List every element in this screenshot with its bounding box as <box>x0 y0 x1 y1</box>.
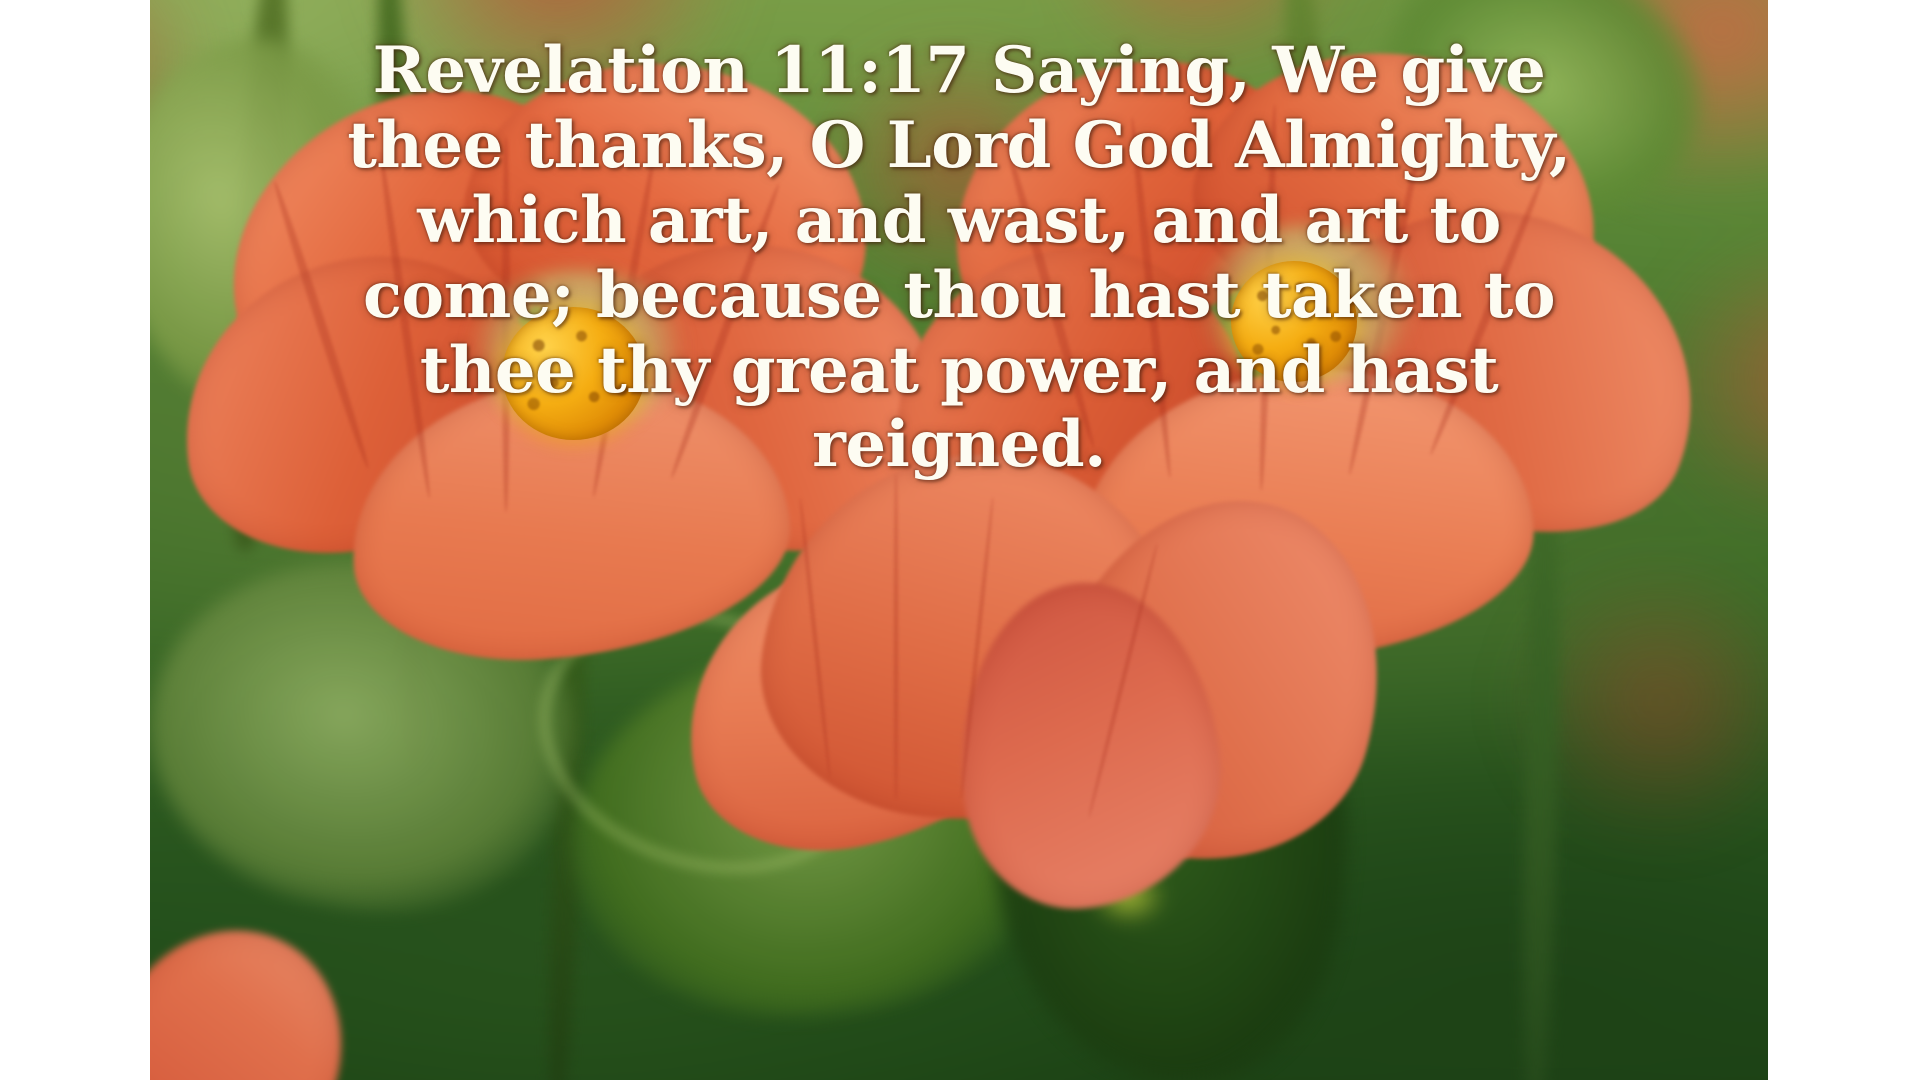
petal-vein <box>894 475 898 799</box>
slide-canvas: Revelation 11:17 Saying, We give thee th… <box>0 0 1920 1080</box>
flower-right-stamen-center <box>1231 261 1357 382</box>
verse-background-photo <box>150 0 1768 1080</box>
flower-left-stamen-center <box>502 307 645 440</box>
